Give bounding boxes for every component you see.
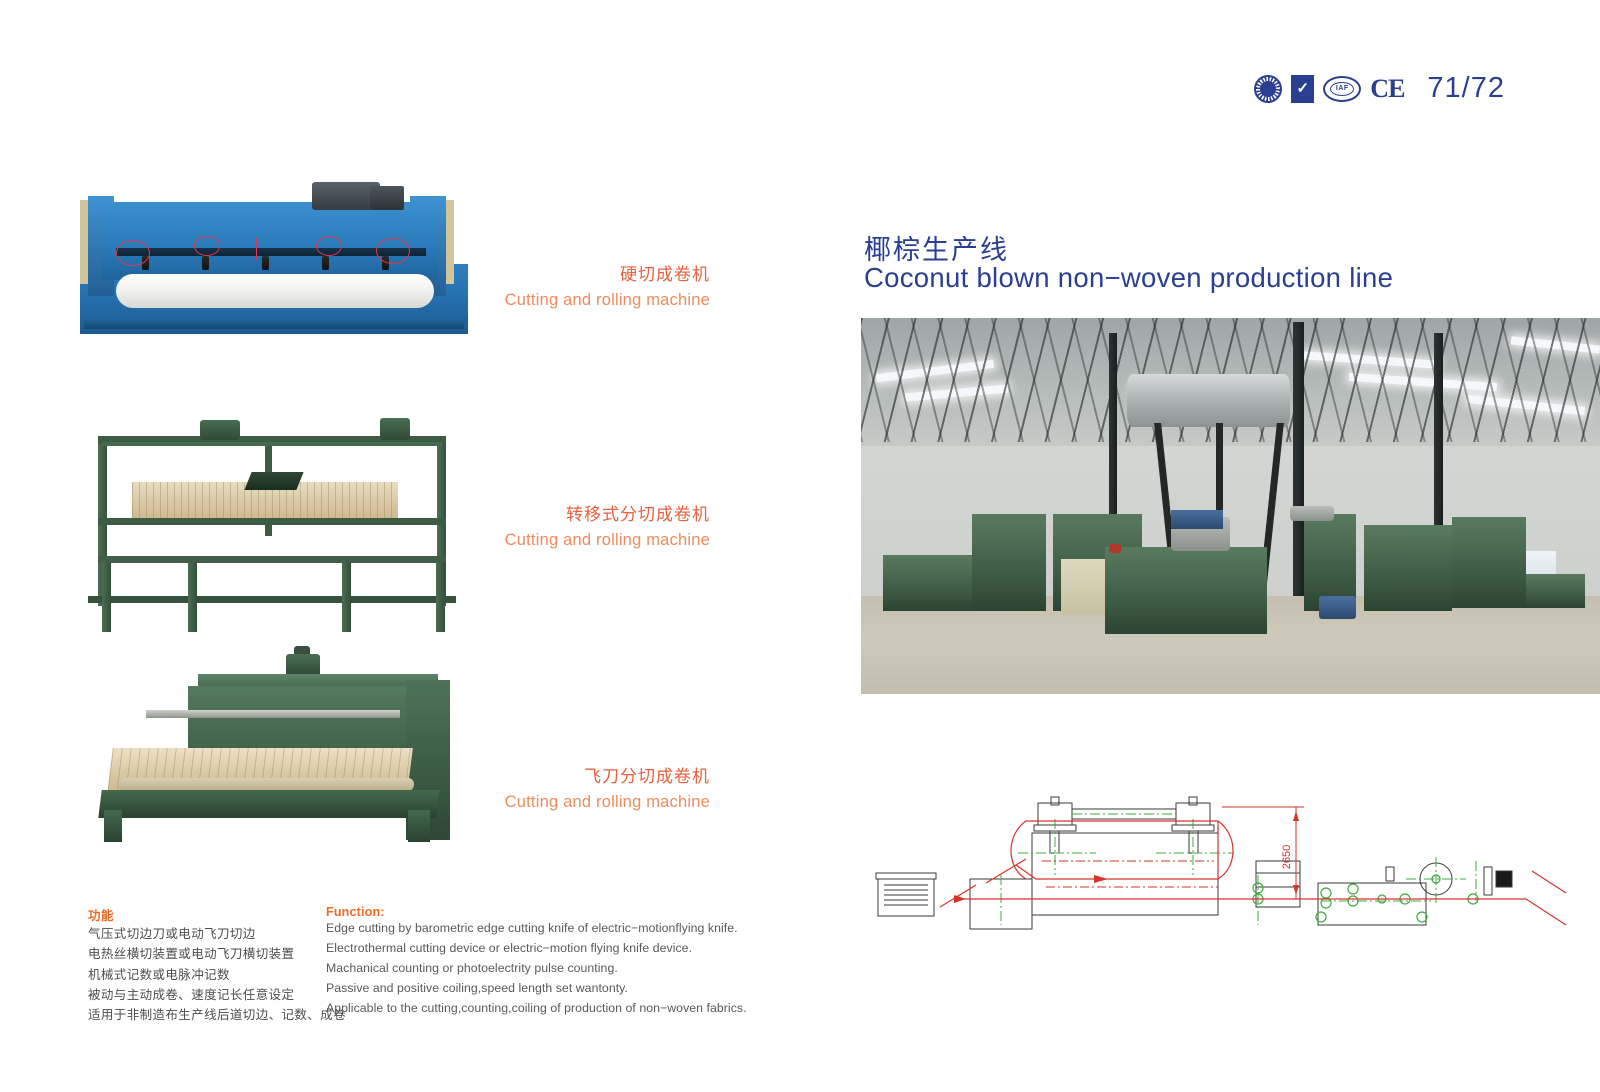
machine-label-zh: 转移式分切成卷机 <box>330 502 710 528</box>
machine2-cutting-blade <box>244 472 303 490</box>
machine1-air-hose <box>116 240 150 266</box>
machine1-nozzle <box>202 256 209 270</box>
machine-label-en: Cutting and rolling machine <box>330 790 710 815</box>
machine3-leg-left <box>104 810 122 842</box>
machine2-leg <box>102 562 111 632</box>
function-block-chinese: 功能 气压式切边刀或电动飞刀切边 电热丝横切装置或电动飞刀横切装置 机械式记数或… <box>88 905 346 1025</box>
dimension-label-2650: 2650 <box>1281 845 1293 869</box>
function-line-zh: 气压式切边刀或电动飞刀切边 <box>88 924 346 944</box>
machine1-gearbox <box>370 186 404 210</box>
production-machine <box>972 514 1046 612</box>
machine1-nozzle <box>322 256 329 270</box>
function-line-en: Passive and positive coiling,speed lengt… <box>326 979 747 999</box>
function-line-en: Applicable to the cutting,counting,coili… <box>326 999 747 1019</box>
production-machine <box>883 555 972 611</box>
machine2-leg <box>436 562 445 632</box>
machine1-air-hose <box>194 236 220 256</box>
machine2-leg <box>188 562 197 632</box>
factory-photo <box>861 318 1600 694</box>
production-machine <box>1364 525 1453 611</box>
machine-label-zh: 硬切成卷机 <box>330 262 710 288</box>
function-line-en: Edge cutting by barometric edge cutting … <box>326 919 747 939</box>
main-carding-machine <box>1105 547 1268 633</box>
blue-feeder-unit <box>1171 510 1223 529</box>
machine2-motor <box>200 420 240 440</box>
machine-label-en: Cutting and rolling machine <box>330 288 710 313</box>
machine3-knife-bar <box>146 710 400 718</box>
machine3-leg-right <box>408 810 430 842</box>
function-line-zh: 机械式记数或电脉冲记数 <box>88 965 346 985</box>
function-line-zh: 适用于非制造布生产线后道切边、记数、成卷 <box>88 1005 346 1025</box>
machine-label-transfer-slitting: 转移式分切成卷机 Cutting and rolling machine <box>330 502 710 552</box>
machine2-leg <box>342 562 351 632</box>
machine2-drive-unit <box>380 418 410 440</box>
right-column: 椰棕生产线 Coconut blown non−woven production… <box>856 0 1600 1092</box>
machine-label-zh: 飞刀分切成卷机 <box>330 764 710 790</box>
machine1-air-hose <box>256 238 262 260</box>
left-column: 硬切成卷机 Cutting and rolling machine 转移式分切成… <box>0 0 800 1092</box>
technical-layout-drawing: 2650 <box>866 775 1586 935</box>
function-block-english: Function: Edge cutting by barometric edg… <box>326 905 747 1019</box>
function-line-zh: 被动与主动成卷、速度记长任意设定 <box>88 985 346 1005</box>
steel-column <box>1293 322 1304 638</box>
machine1-air-hose <box>376 238 410 264</box>
red-indicator <box>1109 544 1121 554</box>
machine-label-en: Cutting and rolling machine <box>330 528 710 553</box>
function-line-zh: 电热丝横切装置或电动飞刀横切装置 <box>88 944 346 964</box>
control-cabinet <box>1061 559 1105 615</box>
machine-photo-hard-cutting <box>80 178 470 343</box>
function-line-en: Electrothermal cutting device or electri… <box>326 939 747 959</box>
production-machine <box>1452 517 1526 607</box>
conveyor-unit <box>1526 574 1585 608</box>
machine-label-hard-cutting: 硬切成卷机 Cutting and rolling machine <box>330 262 710 312</box>
machine2-rail-lower <box>88 596 456 603</box>
blue-drum <box>1319 596 1356 619</box>
machine1-base-rail <box>84 320 464 329</box>
function-line-en: Machanical counting or photoelectrity pu… <box>326 959 747 979</box>
page-title-en: Coconut blown non−woven production line <box>864 262 1393 294</box>
function-title-zh: 功能 <box>88 905 346 924</box>
function-title-en: Function: <box>326 905 747 919</box>
machine2-rail-middle <box>98 556 446 563</box>
machine1-nozzle <box>262 256 269 270</box>
machine1-air-hose <box>316 236 342 256</box>
machine2-crossbar <box>102 442 442 446</box>
duct-elbow <box>1290 506 1334 521</box>
machine-photo-flying-knife <box>88 650 468 850</box>
machine-label-flying-knife: 飞刀分切成卷机 Cutting and rolling machine <box>330 764 710 814</box>
air-tank <box>1127 374 1290 427</box>
